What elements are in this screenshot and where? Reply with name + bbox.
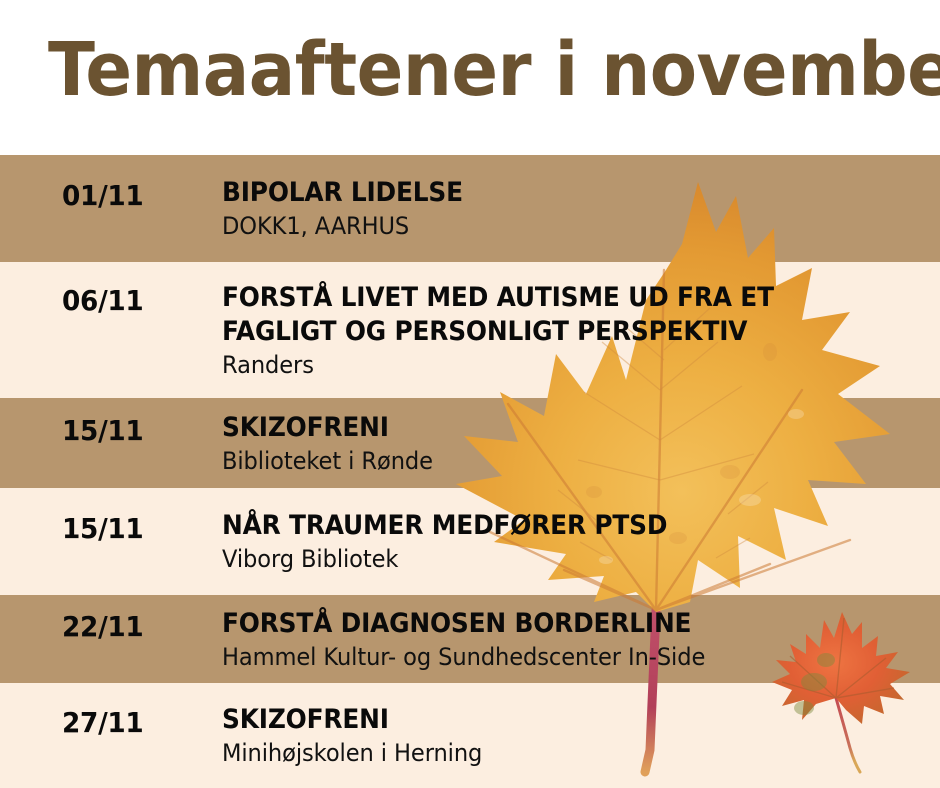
event-title: SKIZOFRENI	[222, 411, 873, 445]
event-location: Hammel Kultur- og Sundhedscenter In-Side	[222, 642, 888, 672]
event-location: Minihøjskolen i Herning	[222, 738, 888, 768]
event-body: NÅR TRAUMER MEDFØRER PTSDViborg Bibliote…	[222, 509, 930, 574]
event-row[interactable]: 15/11NÅR TRAUMER MEDFØRER PTSDViborg Bib…	[0, 488, 940, 595]
event-date: 06/11	[62, 284, 143, 317]
event-date: 15/11	[62, 512, 143, 545]
event-title: SKIZOFRENI	[222, 703, 873, 737]
event-body: SKIZOFRENIMinihøjskolen i Herning	[222, 703, 930, 768]
event-row[interactable]: 15/11SKIZOFRENIBiblioteket i Rønde	[0, 398, 940, 488]
event-body: FORSTÅ DIAGNOSEN BORDERLINEHammel Kultur…	[222, 607, 930, 672]
event-title: FORSTÅ LIVET MED AUTISME UD FRA ET FAGLI…	[222, 281, 873, 349]
event-body: BIPOLAR LIDELSEDOKK1, AARHUS	[222, 176, 930, 241]
poster-canvas: Temaaftener i november 01/11BIPOLAR LIDE…	[0, 0, 940, 788]
event-date: 22/11	[62, 610, 143, 643]
event-title: BIPOLAR LIDELSE	[222, 176, 873, 210]
event-row[interactable]: 22/11FORSTÅ DIAGNOSEN BORDERLINEHammel K…	[0, 595, 940, 683]
event-date: 01/11	[62, 179, 143, 212]
event-location: Biblioteket i Rønde	[222, 446, 888, 476]
poster-header: Temaaftener i november	[0, 0, 940, 155]
event-location: Viborg Bibliotek	[222, 544, 888, 574]
event-date: 27/11	[62, 706, 143, 739]
event-title: FORSTÅ DIAGNOSEN BORDERLINE	[222, 607, 873, 641]
event-body: FORSTÅ LIVET MED AUTISME UD FRA ET FAGLI…	[222, 281, 930, 380]
event-body: SKIZOFRENIBiblioteket i Rønde	[222, 411, 930, 476]
event-row[interactable]: 01/11BIPOLAR LIDELSEDOKK1, AARHUS	[0, 155, 940, 262]
event-location: DOKK1, AARHUS	[222, 211, 888, 241]
event-date: 15/11	[62, 414, 143, 447]
page-title: Temaaftener i november	[48, 28, 940, 112]
event-title: NÅR TRAUMER MEDFØRER PTSD	[222, 509, 873, 543]
event-row[interactable]: 27/11SKIZOFRENIMinihøjskolen i Herning	[0, 683, 940, 788]
event-location: Randers	[222, 350, 888, 380]
event-row[interactable]: 06/11FORSTÅ LIVET MED AUTISME UD FRA ET …	[0, 262, 940, 398]
